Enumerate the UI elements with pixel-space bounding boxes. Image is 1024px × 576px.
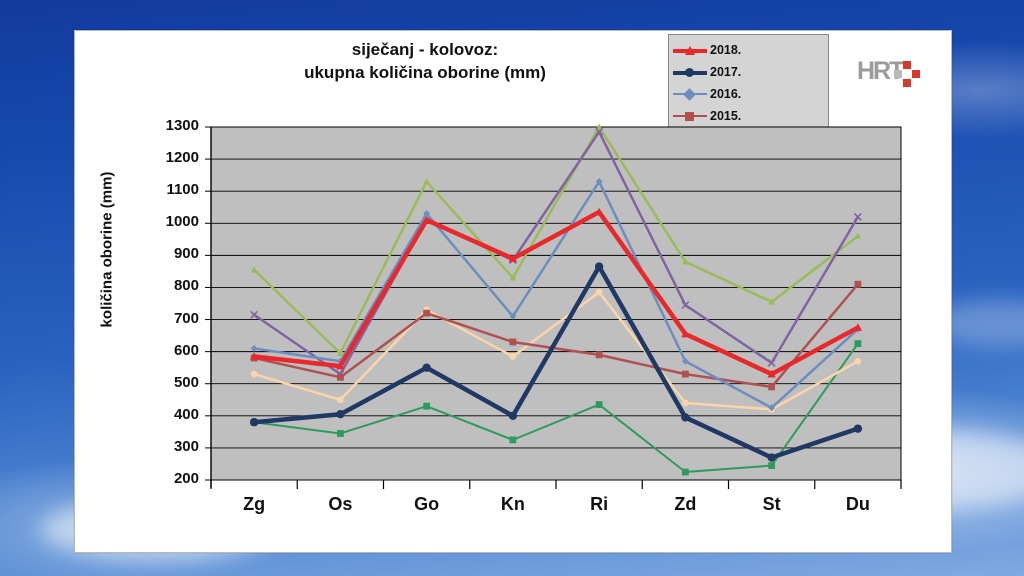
data-point-marker (682, 400, 689, 407)
x-axis-tick-label-du: Du (818, 494, 898, 515)
data-point-marker (509, 412, 517, 420)
data-point-marker (509, 339, 516, 346)
line-chart (75, 31, 951, 552)
x-axis-tick-label-os: Os (300, 494, 380, 515)
slide-screenshot: siječanj - kolovoz: ukupna količina obor… (0, 0, 1024, 576)
data-point-marker (854, 340, 861, 347)
y-axis-tick-label: 700 (143, 310, 199, 327)
data-point-marker (854, 358, 861, 365)
y-axis-tick-label: 300 (143, 438, 199, 455)
data-point-marker (681, 413, 689, 421)
y-axis-tick-label: 200 (143, 470, 199, 487)
y-axis-tick-label: 900 (143, 245, 199, 262)
data-point-marker (251, 371, 258, 378)
data-point-marker (768, 384, 775, 391)
y-axis-tick-label: 1000 (143, 213, 199, 230)
data-point-marker (682, 469, 689, 476)
data-point-marker (250, 418, 258, 426)
y-axis-tick-label: 1200 (143, 149, 199, 166)
data-point-marker (682, 371, 689, 378)
data-point-marker (509, 353, 516, 360)
x-axis-tick-label-kn: Kn (473, 494, 553, 515)
data-point-marker (422, 363, 430, 371)
data-point-marker (854, 281, 861, 288)
y-axis-tick-label: 600 (143, 342, 199, 359)
x-axis-tick-label-go: Go (387, 494, 467, 515)
y-axis-tick-label: 800 (143, 277, 199, 294)
data-point-marker (596, 401, 603, 408)
x-axis-tick-label-zg: Zg (214, 494, 294, 515)
data-point-marker (337, 374, 344, 381)
data-point-marker (596, 351, 603, 358)
data-point-marker (595, 262, 603, 270)
data-point-marker (509, 436, 516, 443)
x-axis-tick-label-st: St (732, 494, 812, 515)
plot-area-wrapper: količina oborine (mm) 130012001100100090… (75, 31, 951, 552)
y-axis-tick-label: 500 (143, 374, 199, 391)
data-point-marker (337, 430, 344, 437)
data-point-marker (337, 396, 344, 403)
data-point-marker (336, 410, 344, 418)
data-point-marker (767, 453, 775, 461)
data-point-marker (423, 310, 430, 317)
data-point-marker (423, 403, 430, 410)
data-point-marker (854, 424, 862, 432)
plot-background (211, 127, 901, 480)
y-axis-tick-label: 1100 (143, 181, 199, 198)
x-axis-tick-label-zd: Zd (645, 494, 725, 515)
chart-card: siječanj - kolovoz: ukupna količina obor… (74, 30, 952, 553)
data-point-marker (596, 289, 603, 296)
y-axis-tick-label: 400 (143, 406, 199, 423)
y-axis-tick-label: 1300 (143, 117, 199, 134)
data-point-marker (768, 462, 775, 469)
x-axis-tick-label-ri: Ri (559, 494, 639, 515)
